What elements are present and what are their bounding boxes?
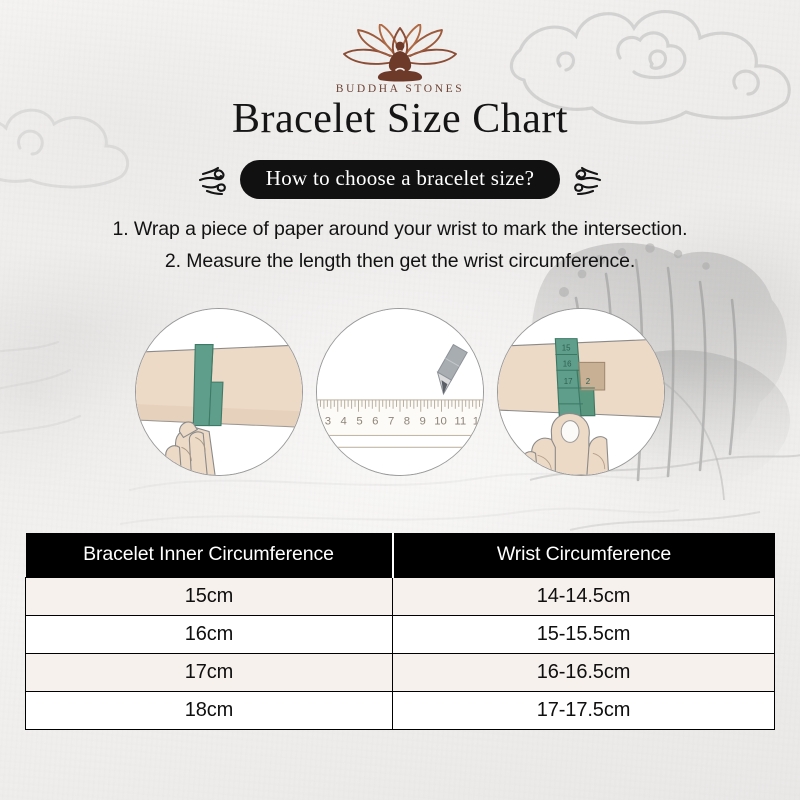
- cell-bracelet-circumference: 18cm: [26, 691, 393, 729]
- column-header-bracelet-inner-circumference: Bracelet Inner Circumference: [26, 533, 393, 577]
- column-header-wrist-circumference: Wrist Circumference: [393, 533, 775, 577]
- svg-text:2: 2: [586, 377, 590, 386]
- cell-bracelet-circumference: 15cm: [26, 577, 393, 615]
- table-row: 17cm 16-16.5cm: [26, 653, 775, 691]
- cell-wrist-circumference: 17-17.5cm: [393, 691, 775, 729]
- illustration-wrap-paper: [135, 308, 303, 476]
- illustration-tape-measure: 15 16 17 2: [497, 308, 665, 476]
- table-row: 16cm 15-15.5cm: [26, 615, 775, 653]
- table-header-row: Bracelet Inner Circumference Wrist Circu…: [26, 533, 775, 577]
- hand-holding-tape-measure-icon: 15 16 17 2: [498, 309, 664, 475]
- brand-name: BUDDHA STONES: [336, 83, 464, 95]
- svg-text:3: 3: [325, 416, 331, 428]
- svg-text:6: 6: [372, 416, 378, 428]
- svg-text:11: 11: [454, 416, 466, 428]
- how-to-choose-banner: How to choose a bracelet size?: [240, 160, 560, 199]
- svg-text:10: 10: [434, 416, 447, 428]
- cell-wrist-circumference: 16-16.5cm: [393, 653, 775, 691]
- banner-row: How to choose a bracelet size?: [0, 160, 800, 199]
- svg-text:17: 17: [564, 377, 573, 386]
- arm-with-paper-strip-icon: [136, 309, 302, 475]
- cell-wrist-circumference: 15-15.5cm: [393, 615, 775, 653]
- svg-text:5: 5: [356, 416, 362, 428]
- svg-text:15: 15: [562, 344, 571, 353]
- svg-text:8: 8: [404, 416, 410, 428]
- cloud-swirl-ornament-left-icon: [197, 163, 231, 197]
- brand-logo: BUDDHA STONES: [0, 24, 800, 95]
- table-row: 15cm 14-14.5cm: [26, 577, 775, 615]
- instruction-step-2: 2. Measure the length then get the wrist…: [0, 246, 800, 278]
- illustration-ruler-measure: 3 4 5 6 7 8 9 10 11 12: [316, 308, 484, 476]
- svg-text:12: 12: [473, 416, 483, 428]
- page-title: Bracelet Size Chart: [0, 95, 800, 143]
- instruction-step-1: 1. Wrap a piece of paper around your wri…: [0, 214, 800, 246]
- instruction-steps: 1. Wrap a piece of paper around your wri…: [0, 214, 800, 277]
- lotus-meditation-icon: [334, 24, 466, 82]
- ruler-and-pencil-icon: 3 4 5 6 7 8 9 10 11 12: [317, 309, 483, 475]
- cell-bracelet-circumference: 16cm: [26, 615, 393, 653]
- page-canvas: BUDDHA STONES Bracelet Size Chart How to…: [0, 0, 800, 800]
- svg-text:4: 4: [341, 416, 347, 428]
- illustration-row: 3 4 5 6 7 8 9 10 11 12: [0, 308, 800, 476]
- svg-text:16: 16: [563, 359, 572, 368]
- size-chart-table: Bracelet Inner Circumference Wrist Circu…: [25, 533, 775, 730]
- cell-bracelet-circumference: 17cm: [26, 653, 393, 691]
- cell-wrist-circumference: 14-14.5cm: [393, 577, 775, 615]
- svg-text:9: 9: [420, 416, 426, 428]
- svg-text:7: 7: [388, 416, 394, 428]
- cloud-swirl-ornament-right-icon: [569, 163, 603, 197]
- table-row: 18cm 17-17.5cm: [26, 691, 775, 729]
